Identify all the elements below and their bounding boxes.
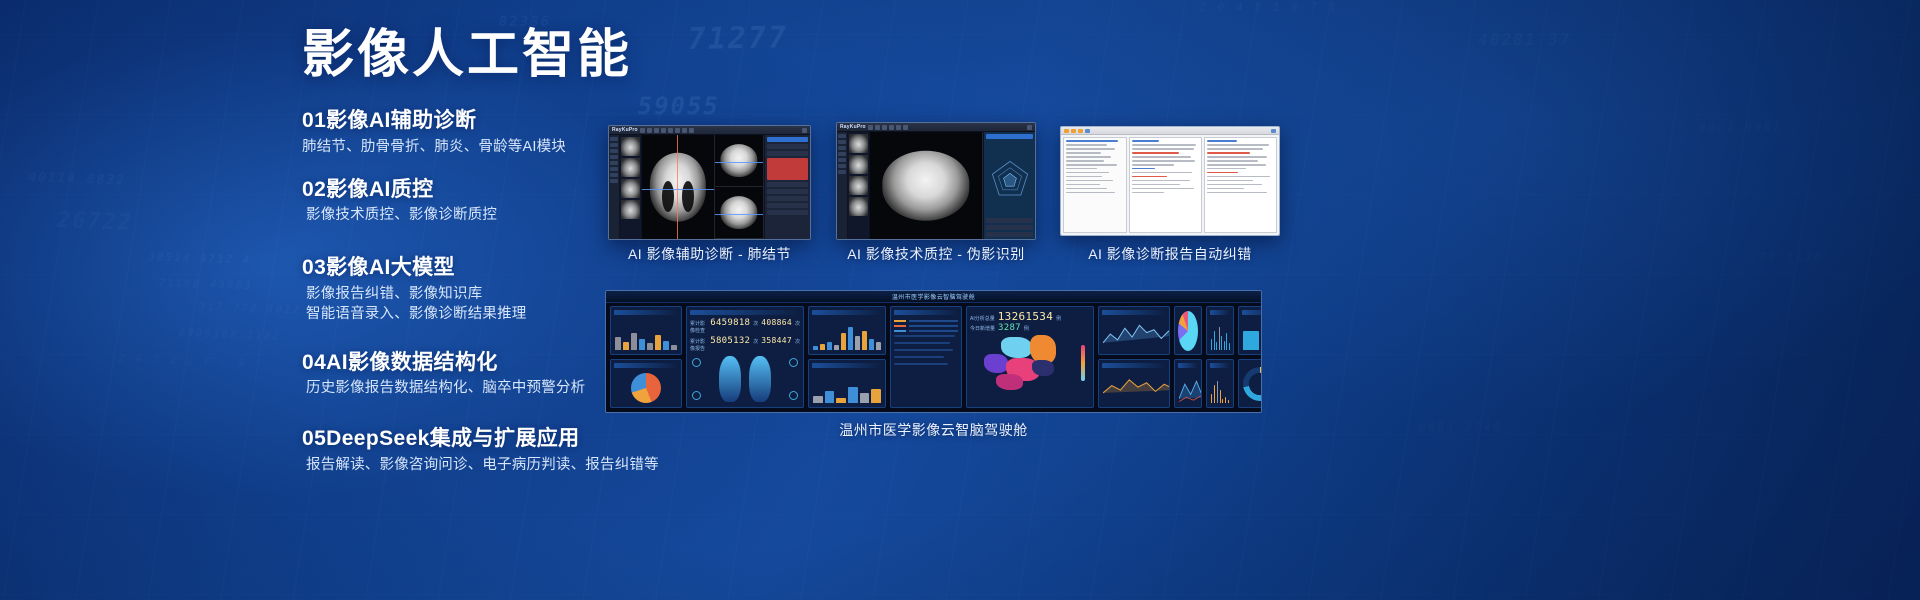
window-close-icon[interactable] [802, 128, 807, 133]
feature-item-01: 01影像AI辅助诊断 肺结节、肋骨骨折、肺炎、骨龄等AI模块 [302, 105, 632, 158]
legend-row [894, 320, 958, 322]
series-thumbnail-list[interactable] [620, 135, 642, 239]
feature-desc-03-line-2: 智能语音录入、影像诊断结果推理 [302, 304, 632, 325]
screenshot-lung-nodule[interactable]: RayKuPro [608, 125, 811, 240]
human-silhouette [719, 356, 741, 402]
report-window [1061, 127, 1279, 235]
toolbar-icon[interactable] [903, 125, 908, 130]
card-header [894, 310, 958, 315]
banner-root: 71277 59055 82386 40281 37 2 0 4 5 1 8 7… [0, 0, 1920, 600]
finding-row[interactable] [767, 182, 808, 187]
toolbar-icon[interactable] [1078, 129, 1083, 133]
toolbar-icon[interactable] [668, 128, 673, 133]
stat-value-exam-delta: 408864 [761, 318, 792, 327]
app-brand-label: RayKuPro [612, 127, 638, 133]
stat-value-ai-today: 3287 [998, 323, 1021, 333]
card-monthly-trend[interactable] [808, 306, 886, 355]
lung-field-left [662, 181, 674, 212]
stat-value-report-delta: 358447 [761, 336, 792, 345]
toolbar-icon[interactable] [1085, 129, 1090, 133]
feature-title-01: 01影像AI辅助诊断 [302, 105, 632, 137]
dashboard-column-kpi [1174, 306, 1262, 408]
correction-suggestion-pane[interactable] [1204, 137, 1277, 233]
qc-result-row[interactable] [986, 218, 1033, 223]
donut-chart [1243, 367, 1262, 401]
findings-header [767, 137, 808, 142]
pie-chart [631, 373, 661, 403]
feature-title-04: 04AI影像数据结构化 [302, 347, 632, 379]
card-header [1178, 363, 1198, 368]
card-kpi-bars-b[interactable] [1206, 359, 1234, 408]
feature-title-03: 03影像AI大模型 [302, 252, 632, 284]
finding-row[interactable] [767, 151, 808, 156]
toolbar-icon[interactable] [1064, 129, 1069, 133]
ct-coronal-view[interactable] [715, 135, 764, 187]
body-part-node-icon[interactable] [789, 358, 798, 367]
image-viewer[interactable] [642, 135, 764, 239]
rail-icon[interactable] [610, 173, 618, 177]
feature-item-02: 02影像AI质控 影像技术质控、影像诊断质控 [302, 174, 632, 227]
toolbar-icon[interactable] [675, 128, 680, 133]
crosshair-horizontal [715, 162, 763, 163]
card-header [1102, 310, 1166, 315]
page-title: 影像人工智能 [302, 28, 632, 83]
card-cumulative-stats[interactable]: 累计影像检查 6459818 次 408864 次 累计影像报告 5805132… [686, 306, 804, 408]
finding-row[interactable] [767, 203, 808, 208]
rail-icon[interactable] [610, 161, 618, 165]
feature-item-03: 03影像AI大模型 影像报告纠错、影像知识库 智能语音录入、影像诊断结果推理 [302, 252, 632, 325]
rail-icon[interactable] [838, 146, 846, 150]
bar-chart [813, 376, 881, 403]
card-line-trend-a[interactable] [1098, 306, 1170, 355]
series-thumbnail[interactable] [849, 155, 868, 174]
stat-value-ai-total: 13261534 [998, 310, 1053, 323]
body-part-node-icon[interactable] [692, 358, 701, 367]
bar-chart [813, 323, 881, 350]
qc-result-row[interactable] [986, 225, 1033, 230]
radar-chart-icon [990, 159, 1030, 199]
rail-icon[interactable] [610, 155, 618, 159]
crosshair-horizontal [715, 214, 763, 215]
map-region[interactable] [1032, 360, 1054, 376]
card-header [614, 310, 678, 315]
rail-icon[interactable] [838, 134, 846, 138]
feature-desc-02-line-1: 影像技术质控、影像诊断质控 [302, 205, 632, 226]
map-color-scale [1081, 345, 1085, 381]
legend-row [894, 330, 958, 332]
human-silhouette [749, 356, 771, 402]
card-header [1242, 310, 1262, 315]
card-kpi-area[interactable] [1174, 359, 1202, 408]
ct-secondary-views [715, 135, 764, 239]
dashboard-cockpit[interactable]: 温州市医学影像云智脑驾驶舱 [605, 290, 1262, 413]
app-window-qc: RayKuPro [837, 123, 1035, 239]
feature-desc-04-line-1: 历史影像报告数据结构化、脑卒中预警分析 [302, 378, 632, 399]
worklist-pane[interactable] [1063, 137, 1127, 233]
stat-unit-report: 次 [753, 338, 758, 345]
screenshot-report-correction[interactable] [1060, 126, 1280, 236]
body-part-node-icon[interactable] [692, 391, 701, 400]
dashboard-title: 温州市医学影像云智脑驾驶舱 [892, 292, 975, 301]
stat-unit-exam: 次 [753, 320, 758, 327]
stat-label-report: 累计影像报告 [690, 338, 707, 352]
card-header [614, 363, 678, 368]
finding-row[interactable] [767, 210, 808, 215]
stat-label-ai-today: 今日新增量 [970, 325, 995, 332]
series-thumbnail[interactable] [621, 179, 640, 198]
card-kpi-bars-a[interactable] [1206, 306, 1234, 355]
bar-chart [1243, 323, 1262, 350]
card-kpi-donut[interactable] [1238, 359, 1262, 408]
rail-icon[interactable] [838, 140, 846, 144]
app-body [837, 132, 1035, 239]
caption-artifact-qc: AI 影像技术质控 - 伪影识别 [836, 244, 1036, 264]
dashboard-column-left [610, 306, 682, 408]
card-header [1102, 363, 1166, 368]
rail-icon[interactable] [610, 167, 618, 171]
dashboard-grid: 累计影像检查 6459818 次 408864 次 累计影像报告 5805132… [610, 306, 1257, 408]
human-body-visual [690, 354, 800, 404]
series-thumbnail[interactable] [849, 176, 868, 195]
tool-rail[interactable] [837, 132, 848, 239]
toolbar-icon[interactable] [882, 125, 887, 130]
card-header [690, 310, 800, 315]
app-toolbar: RayKuPro [837, 123, 1035, 132]
toolbar-icon[interactable] [889, 125, 894, 130]
dashboard-header: 温州市医学影像云智脑驾驶舱 [606, 291, 1261, 303]
qc-score-panel[interactable] [983, 132, 1035, 239]
body-part-node-icon[interactable] [789, 391, 798, 400]
toolbar-icon[interactable] [689, 128, 694, 133]
rail-icon[interactable] [610, 179, 618, 183]
dashboard-column-lines [1098, 306, 1170, 408]
finding-row[interactable] [767, 189, 808, 194]
report-body [1061, 135, 1279, 235]
card-exam-volume[interactable] [610, 306, 682, 355]
card-header [812, 363, 882, 368]
app-body [609, 135, 810, 239]
screenshot-artifact-qc[interactable]: RayKuPro [836, 122, 1036, 240]
rail-icon[interactable] [838, 164, 846, 168]
caption-lung-nodule: AI 影像辅助诊断 - 肺结节 [608, 244, 811, 264]
window-close-icon[interactable] [1027, 125, 1032, 130]
stat-value-exam: 6459818 [710, 318, 750, 328]
card-ranking-list[interactable] [890, 306, 962, 408]
bar-chart [1211, 323, 1229, 350]
toolbar-icon[interactable] [654, 128, 659, 133]
ct-sagittal-view[interactable] [715, 187, 764, 239]
feature-desc-05-line-1: 报告解读、影像咨询问诊、电子病历判读、报告纠错等 [302, 455, 632, 476]
toolbar-icon[interactable] [640, 128, 645, 133]
app-window-lung: RayKuPro [609, 126, 810, 239]
tool-rail[interactable] [609, 135, 620, 239]
radar-chart [986, 141, 1033, 216]
feature-title-05: 05DeepSeek集成与扩展应用 [302, 423, 632, 455]
toolbar-icon[interactable] [868, 125, 873, 130]
lung-field-right [682, 181, 694, 212]
map-region[interactable] [984, 354, 1008, 373]
qc-panel-header [986, 134, 1033, 139]
caption-report-correction: AI 影像诊断报告自动纠错 [1060, 244, 1280, 264]
feature-desc-01-line-1: 肺结节、肋骨骨折、肺炎、骨龄等AI模块 [302, 137, 632, 158]
card-line-trend-b[interactable] [1098, 359, 1170, 408]
findings-panel[interactable] [764, 135, 810, 239]
dashboard-column-stats: 累计影像检查 6459818 次 408864 次 累计影像报告 5805132… [686, 306, 804, 408]
feature-title-02: 02影像AI质控 [302, 174, 632, 206]
line-chart [1103, 374, 1170, 403]
area-chart [1179, 374, 1202, 403]
stat-value-report: 5805132 [710, 336, 750, 346]
series-thumbnail[interactable] [621, 158, 640, 177]
toolbar-icon[interactable] [647, 128, 652, 133]
toolbar-icon[interactable] [1071, 129, 1076, 133]
series-thumbnail[interactable] [849, 197, 868, 216]
bar-chart [1211, 376, 1229, 403]
rail-icon[interactable] [610, 149, 618, 153]
rail-icon[interactable] [838, 170, 846, 174]
card-header [1210, 310, 1230, 315]
stat-label-ai-total: AI分析总量 [970, 315, 995, 322]
app-toolbar: RayKuPro [609, 126, 810, 135]
toolbar-icon[interactable] [1271, 129, 1276, 133]
dashboard-column-map: AI分析总量 13261534 例 今日新增量 3287 例 [966, 306, 1094, 408]
feature-list-column: 影像人工智能 01影像AI辅助诊断 肺结节、肋骨骨折、肺炎、骨龄等AI模块 02… [302, 28, 632, 482]
card-region-map[interactable]: AI分析总量 13261534 例 今日新增量 3287 例 [966, 306, 1094, 408]
card-kpi-single-bar[interactable] [1238, 306, 1262, 355]
ct-axial-view[interactable] [642, 135, 715, 239]
card-kpi-pie[interactable] [1174, 306, 1202, 355]
stat-unit-ai-today: 例 [1024, 325, 1029, 332]
rail-icon[interactable] [838, 158, 846, 162]
stat-unit-ai-total: 例 [1056, 315, 1061, 322]
series-thumbnail-list[interactable] [848, 132, 870, 239]
stat-unit-report-delta: 次 [795, 338, 800, 345]
card-distribution-pie[interactable] [610, 359, 682, 408]
finding-row[interactable] [767, 196, 808, 201]
bar-chart [615, 323, 677, 350]
region-choropleth-map[interactable] [970, 333, 1090, 395]
caption-dashboard-cockpit: 温州市医学影像云智脑驾驶舱 [605, 420, 1262, 440]
series-thumbnail[interactable] [621, 137, 640, 156]
series-thumbnail[interactable] [621, 200, 640, 219]
app-brand-label: RayKuPro [840, 124, 866, 130]
finding-row[interactable] [767, 144, 808, 149]
feature-desc-03-line-1: 影像报告纠错、影像知识库 [302, 284, 632, 305]
toolbar-icon[interactable] [875, 125, 880, 130]
line-chart [1103, 321, 1170, 350]
card-secondary-bars[interactable] [808, 359, 886, 408]
report-toolbar [1061, 127, 1279, 135]
feature-item-04: 04AI影像数据结构化 历史影像报告数据结构化、脑卒中预警分析 [302, 347, 632, 400]
map-region[interactable] [996, 374, 1022, 390]
toolbar-icon[interactable] [661, 128, 666, 133]
series-thumbnail[interactable] [849, 134, 868, 153]
map-region[interactable] [1001, 337, 1032, 358]
toolbar-icon[interactable] [896, 125, 901, 130]
dashboard-column-bars [808, 306, 886, 408]
rail-icon[interactable] [838, 152, 846, 156]
report-text-pane[interactable] [1129, 137, 1202, 233]
feature-item-05: 05DeepSeek集成与扩展应用 报告解读、影像咨询问诊、电子病历判读、报告纠… [302, 423, 632, 476]
toolbar-icon[interactable] [682, 128, 687, 133]
legend-row [894, 325, 958, 327]
ct-axial-view[interactable] [870, 132, 983, 239]
image-viewer[interactable] [870, 132, 983, 239]
card-header [812, 310, 882, 315]
stat-label-exam: 累计影像检查 [690, 320, 707, 334]
dashboard-column-legend [890, 306, 962, 408]
qc-result-row[interactable] [986, 232, 1033, 237]
crosshair-vertical [677, 135, 678, 239]
card-header [1210, 363, 1230, 368]
pie-chart [1178, 311, 1198, 351]
stat-unit-exam-delta: 次 [795, 320, 800, 327]
rail-icon[interactable] [610, 143, 618, 147]
finding-row-alert[interactable] [767, 158, 808, 180]
rail-icon[interactable] [610, 137, 618, 141]
